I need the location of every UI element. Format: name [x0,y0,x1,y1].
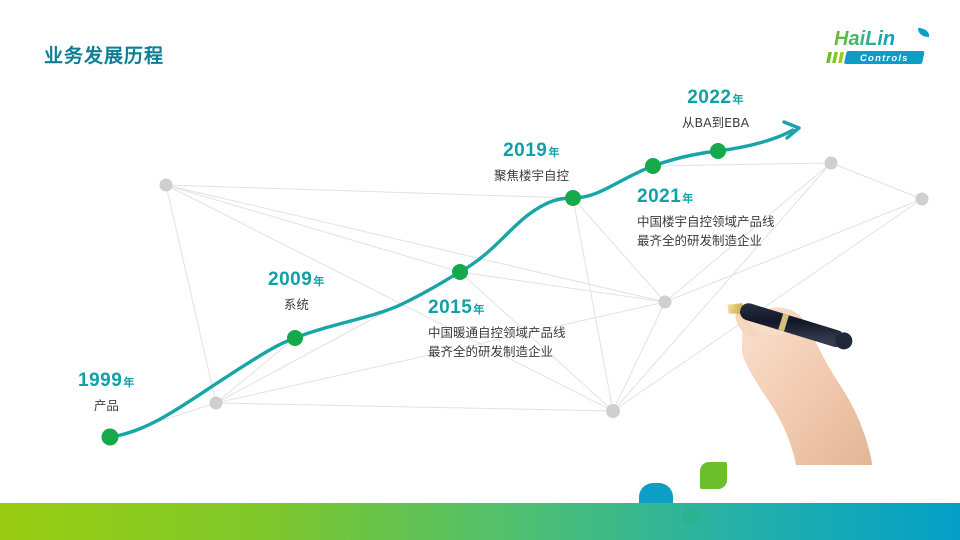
milestone-2019: 2019年 聚焦楼宇自控 [494,141,569,186]
footer-leaf-small-icon [683,508,699,524]
milestone-desc-2022: 从BA到EBA [682,114,749,133]
timeline-node-1999 [102,429,119,446]
milestone-desc-2021: 中国楼宇自控领域产品线 最齐全的研发制造企业 [637,213,775,251]
milestone-desc-1999: 产品 [78,397,135,416]
milestone-year-2015: 2015年 [428,298,566,319]
timeline-node-2019 [565,190,581,206]
milestone-desc-2019: 聚焦楼宇自控 [494,167,569,186]
timeline-curve [0,0,960,540]
timeline-node-2021 [645,158,661,174]
milestone-2022: 2022年 从BA到EBA [682,88,749,133]
milestone-desc-2015: 中国暖通自控领域产品线 最齐全的研发制造企业 [428,324,566,362]
milestone-year-2022: 2022年 [682,88,749,109]
milestone-desc-2009: 系统 [268,296,325,315]
milestone-2015: 2015年 中国暖通自控领域产品线 最齐全的研发制造企业 [428,298,566,361]
milestone-year-2021: 2021年 [637,187,775,208]
timeline-node-2009 [287,330,303,346]
milestone-year-2009: 2009年 [268,270,325,291]
timeline-node-2022 [710,143,726,159]
milestone-1999: 1999年 产品 [78,371,135,416]
milestone-2009: 2009年 系统 [268,270,325,315]
footer-gradient-bar [0,503,960,540]
timeline-node-2015 [452,264,468,280]
milestone-year-2019: 2019年 [494,141,569,162]
footer-leaf-large-icon [700,462,727,489]
milestone-2021: 2021年 中国楼宇自控领域产品线 最齐全的研发制造企业 [637,187,775,250]
slide-canvas: 业务发展历程 HaiLin [0,0,960,540]
timeline-path [110,130,793,437]
milestone-year-1999: 1999年 [78,371,135,392]
timeline-node-group [102,143,727,446]
